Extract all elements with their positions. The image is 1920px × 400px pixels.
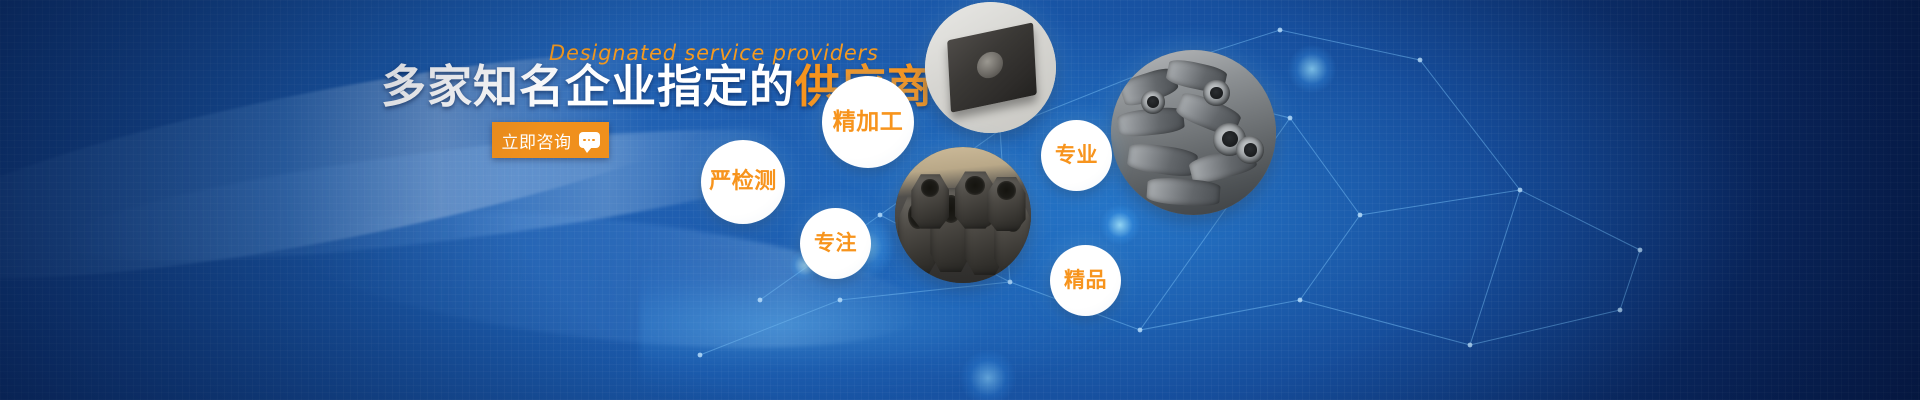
feature-circle-yanjiance[interactable]: 严检测 [701,140,785,224]
feature-circle-zhuanye-label: 专业 [1055,145,1098,166]
chat-bubble-icon [579,132,600,148]
photo-circle-steel-tubes [1111,50,1276,215]
photo-circle-hex-nuts [895,147,1031,283]
consult-now-label: 立即咨询 [502,128,572,153]
feature-circle-jingpin[interactable]: 精品 [1050,245,1121,316]
promo-banner: Designated service providers 多家知名企业指定的供应… [0,0,1920,400]
feature-circle-zhuanye[interactable]: 专业 [1041,120,1112,191]
feature-circle-jingjiagong[interactable]: 精加工 [822,76,914,168]
headline-primary-text: 多家知名企业指定的 [381,60,795,113]
feature-circle-yanjiance-label: 严检测 [709,171,777,193]
photo-circle-steel-plate [925,2,1056,133]
feature-circle-jingjiagong-label: 精加工 [833,111,904,134]
feature-circle-jingpin-label: 精品 [1064,270,1107,291]
consult-now-button[interactable]: 立即咨询 [492,122,609,158]
feature-circle-zhuanzhu-label: 专注 [814,233,857,254]
feature-circle-zhuanzhu[interactable]: 专注 [800,208,871,279]
